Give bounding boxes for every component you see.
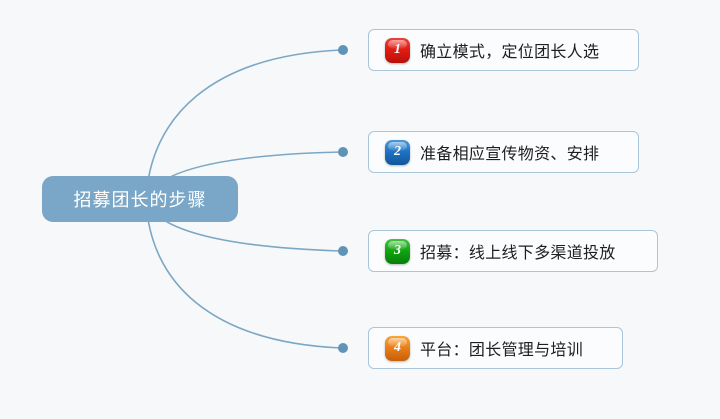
connector-dot-2 [338,147,348,157]
child-node-4[interactable]: 4 平台：团长管理与培训 [368,327,623,369]
number-badge-orange-value: 4 [394,341,401,355]
connector-dot-3 [338,246,348,256]
child-node-3[interactable]: 3 招募：线上线下多渠道投放 [368,230,658,272]
root-node[interactable]: 招募团长的步骤 [42,176,238,222]
child-node-3-label: 招募：线上线下多渠道投放 [420,239,616,263]
connector-curve-4 [146,200,341,348]
connector-dot-1 [338,45,348,55]
number-badge-blue: 2 [385,140,410,165]
child-node-1-label: 确立模式，定位团长人选 [420,38,599,62]
number-badge-red: 1 [385,38,410,63]
mindmap-canvas: 招募团长的步骤 1 确立模式，定位团长人选 2 准备相应宣传物资、安排 3 招募… [0,0,720,419]
child-node-2[interactable]: 2 准备相应宣传物资、安排 [368,131,639,173]
child-node-4-label: 平台：团长管理与培训 [420,336,583,360]
child-node-2-label: 准备相应宣传物资、安排 [420,140,599,164]
number-badge-blue-value: 2 [394,145,401,159]
root-node-label: 招募团长的步骤 [74,186,207,212]
connector-dot-4 [338,343,348,353]
number-badge-green: 3 [385,239,410,264]
child-node-1[interactable]: 1 确立模式，定位团长人选 [368,29,639,71]
number-badge-orange: 4 [385,336,410,361]
number-badge-green-value: 3 [394,244,401,258]
number-badge-red-value: 1 [394,43,401,57]
